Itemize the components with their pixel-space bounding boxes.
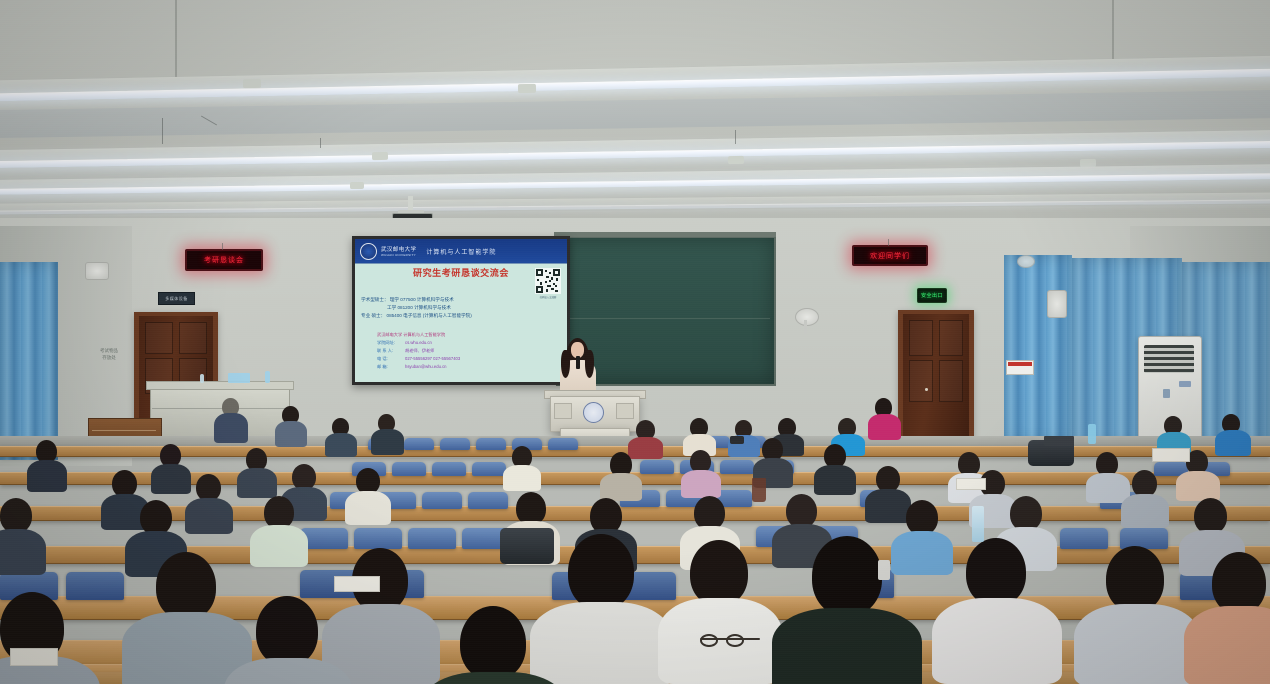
water-bottle xyxy=(972,506,984,542)
lecture-hall-photo: 武汉邮电大学 WUHAN UNIVERSITY 计算机与人工智能学院 研究生考研… xyxy=(0,0,1270,684)
wall-notice-line: 存放处 xyxy=(84,355,134,362)
tube-cap xyxy=(728,156,744,164)
seat xyxy=(66,572,124,600)
laptop xyxy=(1044,436,1074,446)
seat xyxy=(640,460,674,474)
tube-cap xyxy=(518,84,536,93)
university-logo-icon xyxy=(360,243,377,260)
slide-body: 学术型硕士： 理学 077500 计算机科学与技术 工学 081200 计算机科… xyxy=(361,296,533,320)
wall-notice-left: 考试物品 存放处 xyxy=(84,348,134,362)
wall-plate-left-text: 多媒体设备 xyxy=(165,296,188,302)
seat xyxy=(404,438,434,450)
seat xyxy=(1060,528,1108,549)
paper-sheet xyxy=(334,576,380,592)
university-name-en: WUHAN UNIVERSITY xyxy=(381,253,416,257)
seat xyxy=(392,462,426,476)
paper-sheet xyxy=(956,478,986,490)
slide-footer: 武汉邮电大学 计算机与人工智能学院 学院网址:cs.whu.edu.cn 联 系… xyxy=(377,331,460,372)
eyeglasses-lens xyxy=(700,634,718,647)
slide-footer-row: 邮 箱:hsyuban@whu.edu.cn xyxy=(377,363,460,371)
presenter-hair xyxy=(585,350,594,378)
door-panel xyxy=(939,320,963,356)
paper-sheet xyxy=(10,648,58,666)
led-sign-left-text: 考研恳谈会 xyxy=(204,255,244,265)
wall-fan-stem xyxy=(804,320,807,334)
slide-footer-title: 武汉邮电大学 计算机与人工智能学院 xyxy=(377,331,460,339)
seat xyxy=(548,438,578,450)
presenter-hair xyxy=(561,350,570,378)
footer-value: 胡老师、伊老师 xyxy=(405,348,434,353)
footer-label: 学院网址: xyxy=(377,339,405,347)
qr-caption: 扫码加入交流群 xyxy=(532,296,564,300)
wall-speaker xyxy=(1047,290,1067,318)
water-bottles-pack xyxy=(228,373,250,383)
paper-sheet xyxy=(1152,448,1190,462)
podium-side-panel xyxy=(554,403,572,419)
seat xyxy=(720,460,754,474)
ceiling-wire xyxy=(162,118,163,144)
phone xyxy=(878,560,890,580)
university-emblem-icon xyxy=(583,402,604,423)
ac-badge xyxy=(1179,381,1191,387)
university-name-cn: 武汉邮电大学 xyxy=(381,245,416,253)
door-panel xyxy=(909,320,933,356)
slide-footer-row: 学院网址:cs.whu.edu.cn xyxy=(377,339,460,347)
college-name-cn: 计算机与人工智能学院 xyxy=(426,247,496,256)
footer-value: cs.whu.edu.cn xyxy=(405,340,432,345)
footer-label: 电 话: xyxy=(377,355,405,363)
led-sign-right-text: 欢迎同学们 xyxy=(870,251,910,261)
red-notice-sign xyxy=(1006,360,1034,375)
backpack xyxy=(500,528,554,564)
slide-footer-row: 联 系 人:胡老师、伊老师 xyxy=(377,347,460,355)
qr-code-icon xyxy=(535,268,561,294)
seat xyxy=(408,528,456,549)
tube-cap xyxy=(372,152,388,160)
door-panel xyxy=(145,322,173,354)
footer-label: 邮 箱: xyxy=(377,363,405,371)
chalkboard-seam xyxy=(558,318,770,319)
slide-body-line: 专业 硕士： 085400 电子信息 (计算机与人工智能学院) xyxy=(361,312,533,320)
seat xyxy=(432,462,466,476)
exit-sign: 安全出口 xyxy=(917,288,947,303)
projection-screen: 武汉邮电大学 WUHAN UNIVERSITY 计算机与人工智能学院 研究生考研… xyxy=(352,236,570,385)
podium-side-panel xyxy=(616,403,634,419)
led-wire xyxy=(888,239,889,246)
eyeglasses-lens xyxy=(726,634,744,647)
footer-label: 联 系 人: xyxy=(377,347,405,355)
seat xyxy=(476,438,506,450)
door-knob xyxy=(925,388,928,391)
phone xyxy=(730,436,744,444)
seat xyxy=(354,528,402,549)
wall-notice-line: 考试物品 xyxy=(84,348,134,355)
wall-speaker xyxy=(85,262,109,280)
seat xyxy=(472,462,506,476)
presentation-slide: 武汉邮电大学 WUHAN UNIVERSITY 计算机与人工智能学院 研究生考研… xyxy=(355,239,567,382)
water-bottle xyxy=(200,374,204,383)
seat xyxy=(468,492,508,509)
slide-header: 武汉邮电大学 WUHAN UNIVERSITY 计算机与人工智能学院 xyxy=(355,239,567,263)
led-sign-right: 欢迎同学们 xyxy=(852,245,928,266)
window-curtain-left xyxy=(0,262,58,460)
ceiling-seam xyxy=(175,0,177,86)
led-wire xyxy=(222,243,223,250)
wall-speaker xyxy=(1017,255,1035,268)
ceiling-wire xyxy=(320,138,321,148)
drink-cup xyxy=(752,478,766,502)
door-panel xyxy=(179,322,207,354)
footer-value: 027-55556297 027-55567403 xyxy=(405,356,460,361)
slide-footer-row: 电 话:027-55556297 027-55567403 xyxy=(377,355,460,363)
window-curtain-right xyxy=(1004,255,1072,445)
cabinet-seam xyxy=(152,408,286,409)
ac-grill xyxy=(1144,345,1194,373)
wall-plate-left: 多媒体设备 xyxy=(158,292,195,305)
ceiling-seam xyxy=(1112,0,1114,62)
led-sign-left: 考研恳谈会 xyxy=(185,249,263,271)
seat xyxy=(440,438,470,450)
chalkboard-rail xyxy=(554,232,776,237)
university-name-block: 武汉邮电大学 WUHAN UNIVERSITY xyxy=(381,245,416,257)
cabinet-top xyxy=(146,381,294,390)
tube-cap xyxy=(350,182,364,189)
exit-sign-text: 安全出口 xyxy=(921,292,943,299)
water-bottle xyxy=(1088,424,1096,444)
ac-logo-icon xyxy=(1163,389,1170,398)
wall-fan xyxy=(795,308,819,326)
water-bottle xyxy=(265,371,270,383)
tube-cap xyxy=(243,79,261,88)
seat xyxy=(1120,528,1168,549)
ceiling-wire xyxy=(735,130,736,144)
door-panel xyxy=(939,360,963,402)
door-panel xyxy=(909,360,933,402)
slide-body-line: 学术型硕士： 理学 077500 计算机科学与技术 xyxy=(361,296,533,304)
slide-body-line: 工学 081200 计算机科学与技术 xyxy=(361,304,533,312)
table-edge xyxy=(92,430,156,431)
footer-value: hsyuban@whu.edu.cn xyxy=(405,364,447,369)
microphone xyxy=(576,356,580,369)
seat xyxy=(422,492,462,509)
door-right xyxy=(903,314,969,438)
